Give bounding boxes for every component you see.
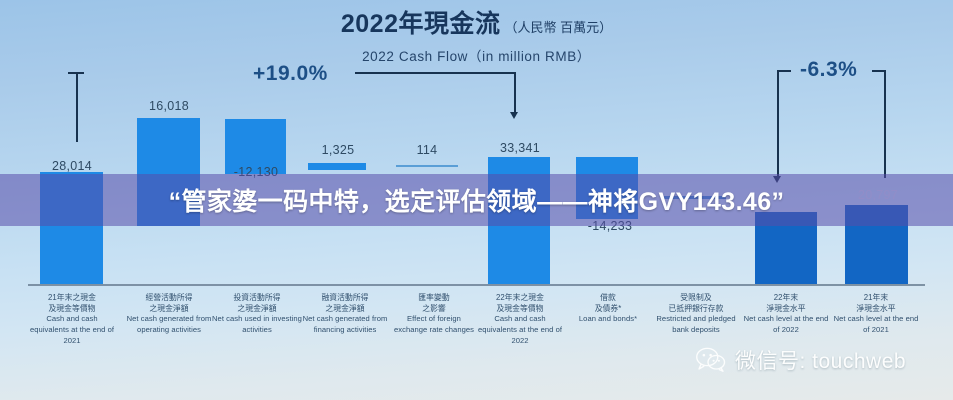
category-cn-4-line1: 匯率變動 xyxy=(390,292,478,303)
bar-value-0: 28,014 xyxy=(32,159,112,173)
category-cn-8-line1: 22年末 xyxy=(742,292,830,303)
chart-screenshot: 2022年現金流（人民幣 百萬元） 2022 Cash Flow（in mill… xyxy=(0,0,953,400)
category-en-1: Net cash generated from operating activi… xyxy=(124,314,214,336)
category-en-3: Net cash generated from financing activi… xyxy=(300,314,390,336)
category-cn-0-line1: 21年末之現金 xyxy=(27,292,117,303)
category-label-7: 受限制及 已抵押銀行存款 Restricted and pledged bank… xyxy=(652,292,740,336)
annotation-line-left-tick xyxy=(68,72,84,74)
category-cn-4-line2: 之影響 xyxy=(390,303,478,314)
category-cn-3-line2: 之現金淨額 xyxy=(300,303,390,314)
wechat-watermark: 微信号: touchweb xyxy=(696,345,906,375)
annotation-line-right-right xyxy=(884,70,886,178)
category-en-8: Net cash level at the end of 2022 xyxy=(742,314,830,336)
category-label-6: 借款 及債券* Loan and bonds* xyxy=(564,292,652,325)
category-label-8: 22年末 淨現金水平 Net cash level at the end of … xyxy=(742,292,830,336)
bar-value-3: 1,325 xyxy=(303,143,373,157)
category-en-0: Cash and cash equivalents at the end of … xyxy=(27,314,117,346)
growth-percent-right: -6.3% xyxy=(800,58,857,82)
category-label-9: 21年末 淨現金水平 Net cash level at the end of … xyxy=(832,292,920,336)
annotation-arrow-left xyxy=(510,112,518,119)
watermark-label: 微信号: touchweb xyxy=(735,345,906,375)
chart-baseline xyxy=(28,284,925,286)
category-cn-6-line1: 借款 xyxy=(564,292,652,303)
category-cn-7-line2: 已抵押銀行存款 xyxy=(652,303,740,314)
category-cn-8-line2: 淨現金水平 xyxy=(742,303,830,314)
overlay-banner-text: “管家婆一码中特，选定评估领域——神将GVY143.46” xyxy=(0,174,953,226)
category-cn-2-line1: 投資活動所得 xyxy=(212,292,302,303)
annotation-line-left-span xyxy=(355,72,515,74)
category-en-6: Loan and bonds* xyxy=(564,314,652,325)
category-label-4: 匯率變動 之影響 Effect of foreign exchange rate… xyxy=(390,292,478,336)
category-label-2: 投資活動所得 之現金淨額 Net cash used in investing … xyxy=(212,292,302,336)
annotation-line-right-left xyxy=(777,70,779,178)
category-cn-0-line2: 及現金等價物 xyxy=(27,303,117,314)
category-cn-5-line2: 及現金等價物 xyxy=(476,303,564,314)
category-label-3: 融資活動所得 之現金淨額 Net cash generated from fin… xyxy=(300,292,390,336)
bar-value-1: 16,018 xyxy=(128,99,210,113)
annotation-line-left-start xyxy=(76,72,78,142)
category-en-5: Cash and cash equivalents at the end of … xyxy=(476,314,564,346)
bar-financing-activities xyxy=(308,163,366,170)
category-cn-6-line2: 及債券* xyxy=(564,303,652,314)
annotation-line-right-left-tick xyxy=(777,70,791,72)
category-label-5: 22年末之現金 及現金等價物 Cash and cash equivalents… xyxy=(476,292,564,346)
category-cn-9-line2: 淨現金水平 xyxy=(832,303,920,314)
growth-percent-left: +19.0% xyxy=(253,62,328,86)
category-cn-7-line1: 受限制及 xyxy=(652,292,740,303)
category-label-1: 經營活動所得 之現金淨額 Net cash generated from ope… xyxy=(124,292,214,336)
wechat-icon xyxy=(696,347,726,373)
category-label-0: 21年末之現金 及現金等價物 Cash and cash equivalents… xyxy=(27,292,117,346)
category-en-2: Net cash used in investing activities xyxy=(212,314,302,336)
annotation-line-left-end xyxy=(514,72,516,114)
category-cn-1-line2: 之現金淨額 xyxy=(124,303,214,314)
bar-value-5: 33,341 xyxy=(480,141,560,155)
category-en-4: Effect of foreign exchange rate changes xyxy=(390,314,478,336)
bar-value-4: 114 xyxy=(393,143,461,157)
category-en-7: Restricted and pledged bank deposits xyxy=(652,314,740,336)
category-cn-1-line1: 經營活動所得 xyxy=(124,292,214,303)
category-cn-9-line1: 21年末 xyxy=(832,292,920,303)
category-cn-5-line1: 22年末之現金 xyxy=(476,292,564,303)
category-cn-3-line1: 融資活動所得 xyxy=(300,292,390,303)
category-cn-2-line2: 之現金淨額 xyxy=(212,303,302,314)
category-en-9: Net cash level at the end of 2021 xyxy=(832,314,920,336)
bar-fx-effect xyxy=(396,165,458,167)
